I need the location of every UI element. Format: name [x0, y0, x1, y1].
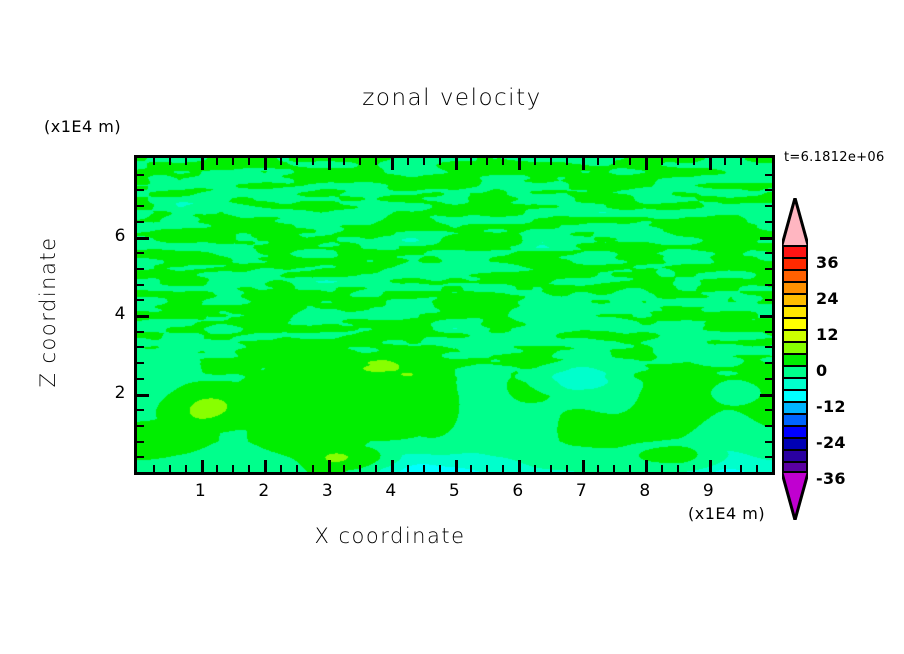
x-tick-minor — [645, 460, 648, 472]
y-tick-minor-right — [765, 425, 772, 427]
x-tick-minor-top — [597, 158, 599, 165]
x-tick-minor-top — [248, 158, 250, 165]
x-tick-minor-top — [693, 158, 695, 165]
y-tick-minor-right — [765, 189, 772, 191]
x-tick-minor-top — [470, 158, 472, 165]
x-tick-minor-top — [343, 158, 345, 165]
x-tick-minor — [248, 465, 250, 472]
y-tick-minor — [137, 221, 144, 223]
colorbar-separator — [782, 353, 808, 355]
x-tick-minor — [216, 465, 218, 472]
y-tick-minor-right — [765, 378, 772, 380]
x-tick-minor-top — [582, 158, 585, 170]
x-tick-minor-top — [264, 158, 267, 170]
colorbar-separator — [782, 425, 808, 427]
contour-field — [137, 158, 772, 472]
x-tick-label: 2 — [244, 481, 284, 501]
x-tick-minor — [518, 460, 521, 472]
x-axis-unit-label: (x1E4 m) — [688, 504, 765, 523]
y-tick-minor — [137, 409, 144, 411]
x-tick-minor-top — [724, 158, 726, 165]
colorbar-separator — [782, 293, 808, 295]
y-tick-minor — [137, 205, 144, 207]
x-tick-minor — [439, 465, 441, 472]
x-tick-minor — [201, 460, 204, 472]
x-tick-minor-top — [439, 158, 441, 165]
y-tick-minor — [137, 252, 144, 254]
y-tick-minor — [137, 174, 144, 176]
x-tick-minor-top — [232, 158, 234, 165]
x-tick-minor — [534, 465, 536, 472]
colorbar-tick-label: 24 — [816, 289, 839, 308]
colorbar-separator — [782, 269, 808, 271]
y-tick-minor-right — [760, 315, 772, 318]
colorbar-separator — [782, 305, 808, 307]
x-tick-minor — [582, 460, 585, 472]
x-tick-minor — [407, 465, 409, 472]
colorbar-separator — [782, 377, 808, 379]
y-tick-minor-right — [765, 331, 772, 333]
colorbar-tick-label: -24 — [816, 433, 846, 452]
colorbar-separator — [782, 329, 808, 331]
x-tick-minor — [375, 465, 377, 472]
x-tick-minor — [724, 465, 726, 472]
x-tick-minor-top — [201, 158, 204, 170]
x-tick-minor — [486, 465, 488, 472]
colorbar-over-arrow-outline — [782, 198, 808, 245]
x-tick-label: 8 — [625, 481, 665, 501]
x-tick-minor — [391, 460, 394, 472]
time-annotation: t=6.1812e+06 — [784, 150, 885, 165]
y-tick-minor-right — [765, 456, 772, 458]
x-tick-label: 9 — [689, 481, 729, 501]
y-tick-minor — [137, 331, 144, 333]
x-tick-minor — [280, 465, 282, 472]
colorbar-separator — [782, 281, 808, 283]
y-tick-minor-right — [765, 221, 772, 223]
y-tick-minor — [137, 362, 144, 364]
x-tick-minor — [185, 465, 187, 472]
x-tick-minor-top — [153, 158, 155, 165]
y-tick-minor-right — [760, 237, 772, 240]
x-tick-minor — [677, 465, 679, 472]
y-tick-label: 2 — [98, 383, 126, 403]
x-tick-minor-top — [709, 158, 712, 170]
x-tick-minor — [597, 465, 599, 472]
y-axis-title: Z coordinate — [36, 202, 60, 422]
x-tick-minor — [264, 460, 267, 472]
x-tick-minor-top — [359, 158, 361, 165]
x-tick-minor — [296, 465, 298, 472]
y-tick-minor — [137, 237, 149, 240]
x-tick-label: 7 — [562, 481, 602, 501]
y-tick-minor-right — [765, 346, 772, 348]
contour-plot-area[interactable] — [134, 155, 775, 475]
y-tick-minor — [137, 346, 144, 348]
colorbar-tick-label: -36 — [816, 469, 846, 488]
colorbar-tick-label: 12 — [816, 325, 839, 344]
x-tick-minor — [343, 465, 345, 472]
colorbar-tick-label: -12 — [816, 397, 846, 416]
x-tick-minor-top — [756, 158, 758, 165]
x-tick-minor-top — [661, 158, 663, 165]
y-tick-minor-right — [765, 268, 772, 270]
y-tick-minor-right — [760, 394, 772, 397]
y-tick-minor — [137, 425, 144, 427]
x-tick-minor-top — [518, 158, 521, 170]
x-tick-minor — [709, 460, 712, 472]
colorbar-separator — [782, 413, 808, 415]
y-tick-minor-right — [765, 441, 772, 443]
x-tick-minor — [756, 465, 758, 472]
x-axis-title: X coordinate — [0, 524, 780, 548]
colorbar-separator — [782, 461, 808, 463]
page-title: zonal velocity — [0, 85, 904, 111]
x-tick-minor-top — [423, 158, 425, 165]
colorbar-separator — [782, 341, 808, 343]
x-tick-label: 3 — [308, 481, 348, 501]
x-tick-minor-top — [677, 158, 679, 165]
y-tick-label: 6 — [98, 226, 126, 246]
y-tick-minor-right — [765, 362, 772, 364]
y-tick-label: 4 — [98, 304, 126, 324]
x-tick-minor — [550, 465, 552, 472]
colorbar-separator — [782, 245, 808, 247]
y-tick-minor-right — [765, 205, 772, 207]
x-tick-minor-top — [502, 158, 504, 165]
x-tick-minor-top — [566, 158, 568, 165]
x-tick-minor-top — [375, 158, 377, 165]
x-tick-label: 4 — [371, 481, 411, 501]
x-tick-minor-top — [216, 158, 218, 165]
colorbar-under-arrow-outline — [782, 473, 808, 520]
y-tick-minor — [137, 441, 144, 443]
colorbar-separator — [782, 437, 808, 439]
x-tick-minor — [661, 465, 663, 472]
colorbar[interactable] — [782, 245, 808, 473]
y-tick-minor — [137, 189, 144, 191]
x-tick-label: 1 — [181, 481, 221, 501]
x-tick-minor — [470, 465, 472, 472]
colorbar-tick-label: 0 — [816, 361, 827, 380]
x-tick-minor — [455, 460, 458, 472]
colorbar-separator — [782, 401, 808, 403]
x-tick-minor — [740, 465, 742, 472]
y-tick-minor — [137, 299, 144, 301]
x-tick-minor-top — [312, 158, 314, 165]
colorbar-tick-label: 36 — [816, 253, 839, 272]
x-tick-minor — [566, 465, 568, 472]
x-tick-label: 6 — [498, 481, 538, 501]
x-tick-minor-top — [328, 158, 331, 170]
colorbar-separator — [782, 257, 808, 259]
y-tick-minor-right — [765, 174, 772, 176]
x-tick-minor — [629, 465, 631, 472]
y-tick-minor — [137, 394, 149, 397]
x-tick-minor — [169, 465, 171, 472]
x-tick-minor-top — [280, 158, 282, 165]
x-tick-minor-top — [629, 158, 631, 165]
x-tick-minor — [232, 465, 234, 472]
x-tick-minor-top — [486, 158, 488, 165]
colorbar-separator — [782, 365, 808, 367]
x-tick-minor-top — [550, 158, 552, 165]
x-tick-minor — [359, 465, 361, 472]
y-tick-minor — [137, 378, 144, 380]
y-tick-minor — [137, 284, 144, 286]
colorbar-separator — [782, 317, 808, 319]
x-tick-minor-top — [169, 158, 171, 165]
x-tick-minor — [153, 465, 155, 472]
y-tick-minor-right — [765, 252, 772, 254]
x-tick-minor-top — [534, 158, 536, 165]
colorbar-separator — [782, 389, 808, 391]
x-tick-minor — [502, 465, 504, 472]
x-tick-minor-top — [613, 158, 615, 165]
y-tick-minor-right — [765, 284, 772, 286]
x-tick-label: 5 — [435, 481, 475, 501]
x-tick-minor — [423, 465, 425, 472]
y-tick-minor-right — [765, 299, 772, 301]
x-tick-minor — [693, 465, 695, 472]
x-tick-minor-top — [296, 158, 298, 165]
x-tick-minor-top — [455, 158, 458, 170]
y-axis-unit-label: (x1E4 m) — [44, 117, 121, 136]
y-tick-minor-right — [765, 409, 772, 411]
x-tick-minor-top — [645, 158, 648, 170]
colorbar-separator — [782, 449, 808, 451]
y-tick-minor — [137, 315, 149, 318]
x-tick-minor — [312, 465, 314, 472]
x-tick-minor-top — [407, 158, 409, 165]
x-tick-minor-top — [185, 158, 187, 165]
x-tick-minor-top — [740, 158, 742, 165]
x-tick-minor — [328, 460, 331, 472]
y-tick-minor — [137, 456, 144, 458]
x-tick-minor — [613, 465, 615, 472]
y-tick-minor — [137, 268, 144, 270]
x-tick-minor-top — [391, 158, 394, 170]
